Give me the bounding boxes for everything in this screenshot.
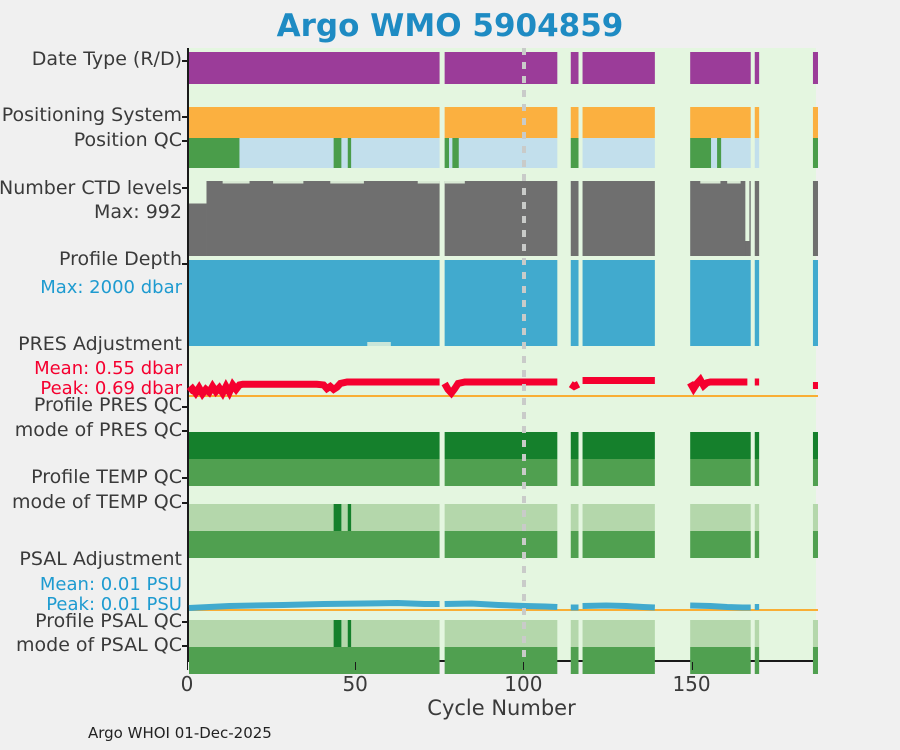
position-qc-flag [334,138,342,168]
psal-adjustment-line [189,603,440,608]
position-qc-band [755,138,759,168]
profile-pres-qc-band [189,432,440,459]
profile-temp-qc-flag [348,504,351,531]
ctd-levels-bar [755,181,759,256]
psal-adjustment-line [583,606,655,608]
label-position-qc: Position QC [74,129,182,152]
profile-psal-qc-flag [348,620,351,647]
ctd-levels-notch [745,181,749,241]
position-qc-flag [189,138,239,168]
x-tick-label-100: 100 [504,672,542,696]
pres-adjustment-line [571,384,579,386]
mode-of-temp-qc-band [690,531,751,558]
profile-temp-qc-band [690,504,751,531]
position-qc-flag [348,138,351,168]
pres-adjustment-line [690,380,747,389]
positioning-system-band [445,107,558,138]
figure-footer: Argo WHOI 01-Dec-2025 [88,724,272,742]
page-title: Argo WMO 5904859 [0,8,900,44]
y-tick-ctd-levels [182,187,189,189]
label-mode-of-pres-qc: mode of PRES QC [15,419,182,442]
profile-psal-qc-band [690,620,751,647]
profile-depth-bar [690,260,751,346]
profile-depth-bar [813,260,818,346]
position-qc-flag [571,138,579,168]
profile-depth-bar [755,260,759,346]
psal-adjustment-line [690,606,751,608]
ctd-levels-jitter [223,181,250,184]
profile-depth-dip [367,342,391,346]
x-tick-0 [187,662,188,670]
mode-of-pres-qc-band [583,459,655,486]
profile-pres-qc-band [813,432,818,459]
profile-psal-qc-flag [334,620,342,647]
x-tick-50 [355,662,356,670]
ctd-levels-bar [445,181,558,256]
positioning-system-band [813,107,818,138]
label-positioning-system: Positioning System [2,104,182,127]
mode-of-pres-qc-band [690,459,751,486]
label-pres-adjustment: PRES Adjustment [18,333,182,356]
mode-of-temp-qc-band [571,531,579,558]
positioning-system-band [571,107,579,138]
ctd-levels-jitter [445,181,465,184]
timeline-plot-area [187,48,816,662]
positioning-system-band [189,107,440,138]
profile-depth-bar [189,260,440,346]
mode-of-pres-qc-band [755,459,759,486]
ctd-levels-bar [583,181,655,256]
profile-depth-bar [583,260,655,346]
label-profile-pres-qc: Profile PRES QC [34,394,182,417]
pres-adjustment-line [189,382,440,394]
profile-pres-qc-band [690,432,751,459]
label-mode-of-psal-qc: mode of PSAL QC [16,634,182,657]
position-qc-flag [717,138,721,168]
mode-of-temp-qc-band [445,531,558,558]
ctd-levels-jitter [418,181,440,184]
cycle-marker-line [522,48,526,662]
y-tick-positioning [182,116,189,118]
mode-of-pres-qc-band [189,459,440,486]
pres-adjustment-line [445,382,558,393]
label-profile-temp-qc: Profile TEMP QC [31,466,182,489]
profile-psal-qc-band [445,620,558,647]
profile-temp-qc-band [571,504,579,531]
profile-pres-qc-band [755,432,759,459]
label-profile-psal-qc: Profile PSAL QC [35,610,182,633]
label-psal-adjustment: PSAL Adjustment [19,548,182,571]
date-type-band [445,52,558,84]
ctd-levels-bar [690,181,751,256]
x-axis-title: Cycle Number [187,696,816,720]
profile-pres-qc-band [583,432,655,459]
profile-psal-qc-band [189,620,440,647]
profile-temp-qc-flag [334,504,342,531]
mode-of-pres-qc-band [571,459,579,486]
label-mode-of-temp-qc: mode of TEMP QC [12,491,182,514]
mode-of-pres-qc-band [813,459,818,486]
profile-temp-qc-band [583,504,655,531]
position-qc-band [445,138,558,168]
position-qc-flag [452,138,458,168]
position-qc-flag [445,138,449,168]
y-tick-mode-psal-qc [182,645,189,647]
ctd-levels-bar [745,241,749,256]
ctd-levels-jitter [700,181,720,184]
y-tick-profile-depth [182,263,189,265]
profile-temp-qc-band [813,504,818,531]
date-type-band [571,52,579,84]
profile-temp-qc-band [189,504,440,531]
date-type-band [690,52,751,84]
y-tick-date-type [182,60,189,62]
profile-temp-qc-band [755,504,759,531]
profile-pres-qc-band [571,432,579,459]
mode-of-pres-qc-band [445,459,558,486]
pres-adjustment-line [813,382,818,389]
x-tick-150 [692,662,693,670]
y-tick-profile-pres-qc [182,406,189,408]
position-qc-flag [690,138,711,168]
position-qc-band [583,138,655,168]
mode-of-temp-qc-band [813,531,818,558]
psal-adjustment-line [445,604,558,608]
ctd-levels-bar [189,204,206,257]
date-type-band [755,52,759,84]
profile-depth-bar [571,260,579,346]
mode-of-temp-qc-band [583,531,655,558]
profile-psal-qc-band [583,620,655,647]
date-type-band [583,52,655,84]
argo-float-summary-figure: Argo WMO 5904859 Date Type (R/D) Positio… [0,0,900,750]
label-number-ctd-levels: Number CTD levels [0,177,182,200]
mode-of-temp-qc-band [189,531,440,558]
ctd-levels-jitter [727,181,740,184]
profile-psal-qc-band [813,620,818,647]
x-tick-label-0: 0 [181,672,194,696]
positioning-system-band [755,107,759,138]
label-number-ctd-levels-max: Max: 992 [94,201,182,224]
x-tick-label-50: 50 [342,672,367,696]
ctd-levels-bar [571,181,579,256]
timeline-rows [189,48,818,662]
positioning-system-band [690,107,751,138]
ctd-levels-bar [206,181,439,256]
profile-psal-qc-band [755,620,759,647]
ctd-levels-jitter [273,181,303,184]
ctd-levels-bar [813,181,818,256]
label-profile-depth-max: Max: 2000 dbar [40,276,182,299]
y-tick-mode-temp-qc [182,502,189,504]
x-tick-label-150: 150 [672,672,710,696]
profile-psal-qc-band [571,620,579,647]
y-tick-profile-temp-qc [182,477,189,479]
x-tick-100 [523,662,524,670]
profile-depth-bar [445,260,558,346]
y-tick-profile-psal-qc [182,621,189,623]
date-type-band [813,52,818,84]
label-profile-depth: Profile Depth [59,248,182,271]
profile-temp-qc-band [445,504,558,531]
profile-pres-qc-band [445,432,558,459]
y-tick-position-qc [182,140,189,142]
y-tick-mode-pres-qc [182,430,189,432]
positioning-system-band [583,107,655,138]
mode-of-temp-qc-band [755,531,759,558]
date-type-band [189,52,440,84]
label-date-type: Date Type (R/D) [32,48,182,71]
position-qc-flag [813,138,818,168]
ctd-levels-jitter [330,181,364,184]
